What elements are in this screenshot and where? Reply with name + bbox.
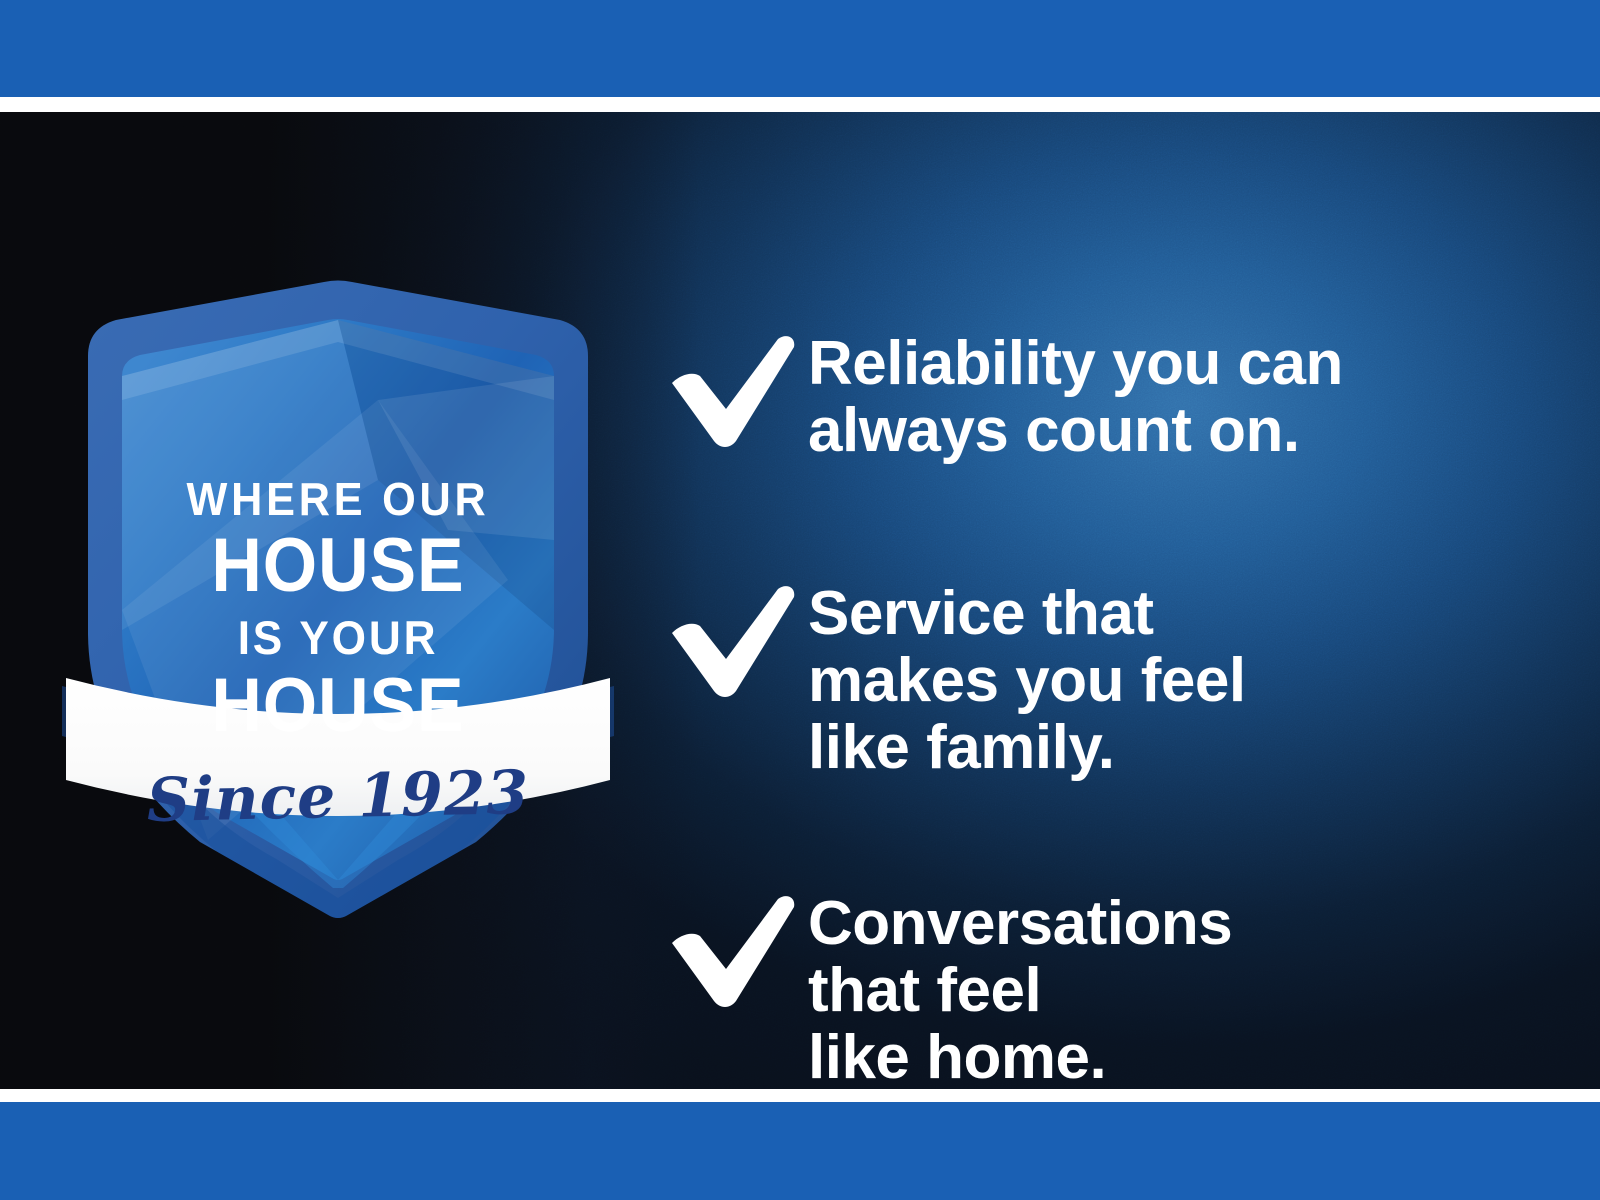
shield-emblem: WHERE OUR HOUSE IS YOUR HOUSE Since 1923 bbox=[78, 280, 598, 920]
benefit-item: Conversations that feel like home. bbox=[666, 887, 1546, 1089]
top-brand-bar bbox=[0, 0, 1600, 97]
benefit-text: Reliability you can always count on. bbox=[808, 327, 1546, 465]
benefit-text: Service that makes you feel like family. bbox=[808, 577, 1546, 782]
check-icon bbox=[666, 891, 798, 1011]
benefit-item: Service that makes you feel like family. bbox=[666, 577, 1546, 782]
promo-poster: WHERE OUR HOUSE IS YOUR HOUSE Since 1923… bbox=[0, 0, 1600, 1200]
bottom-brand-bar bbox=[0, 1102, 1600, 1200]
benefit-item: Reliability you can always count on. bbox=[666, 327, 1546, 465]
benefit-text: Conversations that feel like home. bbox=[808, 887, 1546, 1089]
check-icon bbox=[666, 331, 798, 451]
poster-canvas: WHERE OUR HOUSE IS YOUR HOUSE Since 1923… bbox=[0, 112, 1600, 1089]
check-icon bbox=[666, 581, 798, 701]
